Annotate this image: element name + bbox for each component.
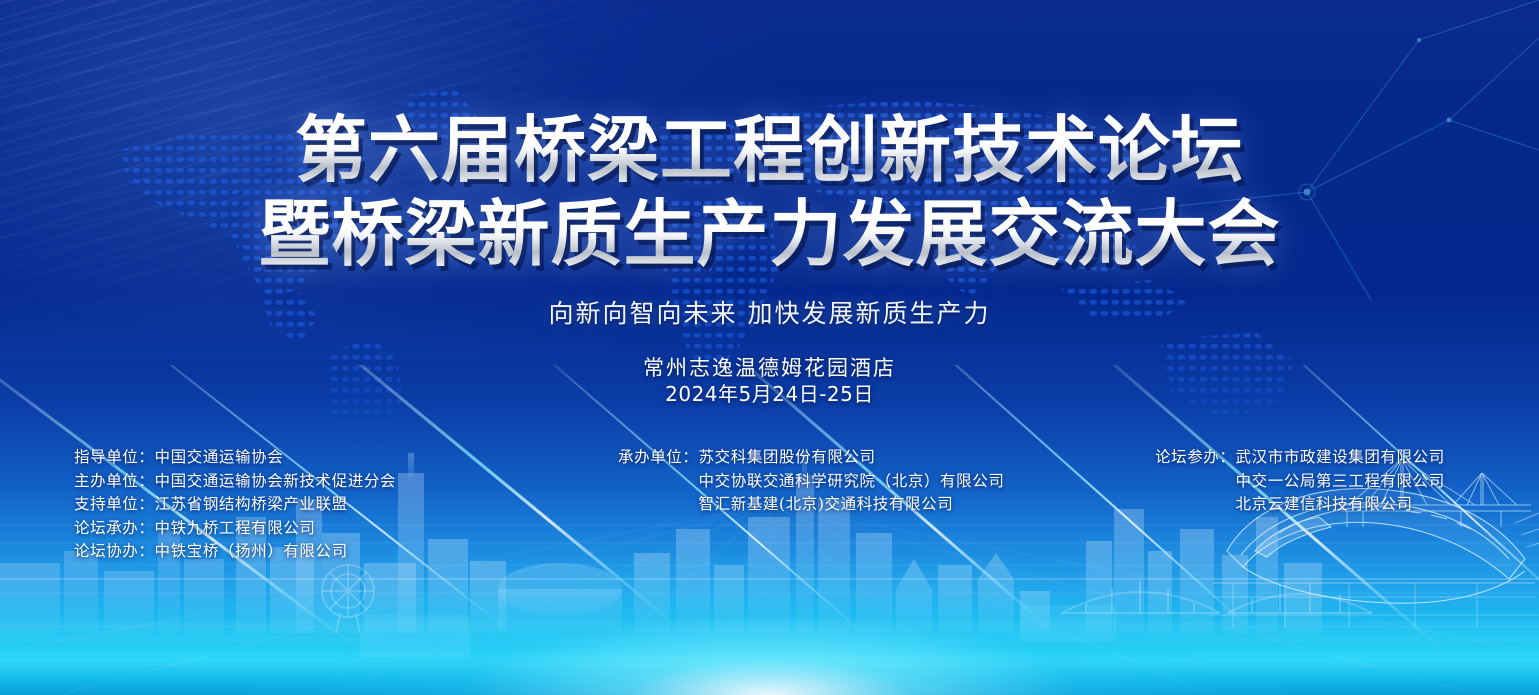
- sponsor-row: 主办单位： 中国交通运输协会新技术促进分会: [74, 470, 396, 494]
- sponsor-label: 指导单位：: [74, 446, 155, 470]
- subtitle: 向新向智向未来 加快发展新质生产力: [0, 294, 1539, 330]
- sponsor-value: 中铁九桥工程有限公司: [155, 517, 316, 541]
- title-line-2: 暨桥梁新质生产力发展交流大会: [0, 192, 1539, 276]
- sponsor-row: 论坛协办： 中铁宝桥（扬州）有限公司: [74, 540, 396, 564]
- sponsor-row: 承办单位： 智汇新基建(北京)交通科技有限公司: [618, 493, 1004, 517]
- sponsor-row: 支持单位： 江苏省钢结构桥梁产业联盟: [74, 493, 396, 517]
- sponsor-row: 论坛承办： 中铁九桥工程有限公司: [74, 517, 396, 541]
- title-block: 第六届桥梁工程创新技术论坛 暨桥梁新质生产力发展交流大会: [0, 108, 1539, 276]
- sponsor-label: 承办单位：: [618, 446, 699, 470]
- sponsor-label: 支持单位：: [74, 493, 155, 517]
- sponsor-label: 论坛承办：: [74, 517, 155, 541]
- sponsor-label: 论坛协办：: [74, 540, 155, 564]
- sponsor-row: 指导单位： 中国交通运输协会: [74, 446, 396, 470]
- sponsor-row: 承办单位： 中交协联交通科学研究院（北京）有限公司: [618, 470, 1004, 494]
- sponsor-row: 论坛参办： 北京云建信科技有限公司: [1155, 493, 1445, 517]
- sponsor-label: 论坛参办：: [1155, 446, 1236, 470]
- sponsor-value: 北京云建信科技有限公司: [1236, 493, 1413, 517]
- sponsor-value: 苏交科集团股份有限公司: [699, 446, 876, 470]
- background-gradient: [0, 0, 1539, 695]
- sponsor-value: 智汇新基建(北京)交通科技有限公司: [699, 493, 954, 517]
- title-line-1: 第六届桥梁工程创新技术论坛: [0, 108, 1539, 192]
- sponsor-value: 中国交通运输协会: [155, 446, 284, 470]
- sponsor-value: 中铁宝桥（扬州）有限公司: [155, 540, 348, 564]
- sponsor-value: 中国交通运输协会新技术促进分会: [155, 470, 397, 494]
- sponsor-column-right: 论坛参办： 武汉市市政建设集团有限公司 论坛参办： 中交一公局第三工程有限公司 …: [1155, 446, 1445, 517]
- sponsor-columns: 指导单位： 中国交通运输协会 主办单位： 中国交通运输协会新技术促进分会 支持单…: [0, 446, 1539, 566]
- sponsor-row: 论坛参办： 武汉市市政建设集团有限公司: [1155, 446, 1445, 470]
- conference-banner: 第六届桥梁工程创新技术论坛 暨桥梁新质生产力发展交流大会 向新向智向未来 加快发…: [0, 0, 1539, 695]
- sponsor-column-left: 指导单位： 中国交通运输协会 主办单位： 中国交通运输协会新技术促进分会 支持单…: [74, 446, 396, 564]
- sponsor-value: 中交一公局第三工程有限公司: [1236, 470, 1445, 494]
- sponsor-value: 武汉市市政建设集团有限公司: [1236, 446, 1445, 470]
- sponsor-value: 中交协联交通科学研究院（北京）有限公司: [699, 470, 1005, 494]
- sponsor-label: 主办单位：: [74, 470, 155, 494]
- sponsor-value: 江苏省钢结构桥梁产业联盟: [155, 493, 348, 517]
- sponsor-row: 论坛参办： 中交一公局第三工程有限公司: [1155, 470, 1445, 494]
- sponsor-column-middle: 承办单位： 苏交科集团股份有限公司 承办单位： 中交协联交通科学研究院（北京）有…: [618, 446, 1004, 517]
- sponsor-row: 承办单位： 苏交科集团股份有限公司: [618, 446, 1004, 470]
- event-date: 2024年5月24日-25日: [0, 378, 1539, 407]
